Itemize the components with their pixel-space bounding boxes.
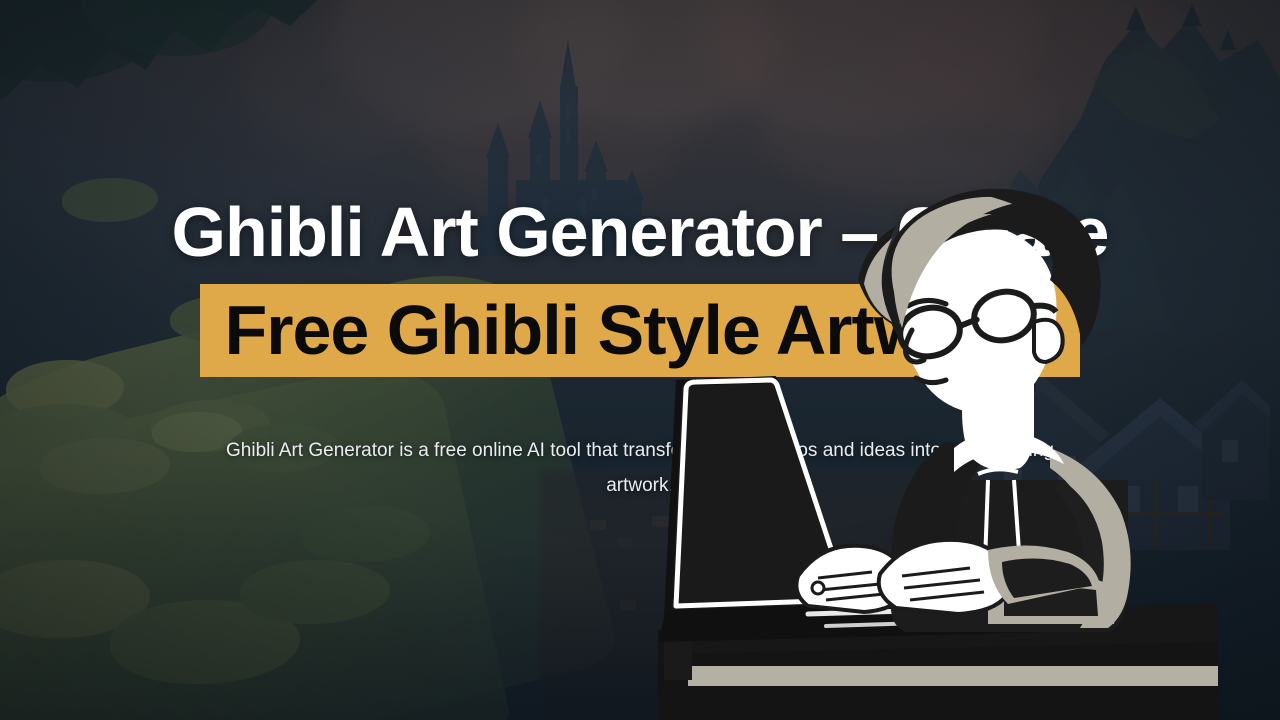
hero-subtitle-line2: artwork.	[606, 475, 674, 496]
hero-banner: Ghibli Art Generator – Create Free Ghibl…	[0, 0, 1280, 720]
hero-content: Ghibli Art Generator – Create Free Ghibl…	[0, 0, 1280, 720]
hero-subtitle: Ghibli Art Generator is a free online AI…	[190, 433, 1090, 503]
hero-subtitle-line1: Ghibli Art Generator is a free online AI…	[226, 440, 1054, 461]
page-title: Ghibli Art Generator – Create	[172, 196, 1109, 270]
page-title-highlight: Free Ghibli Style Artwork!	[200, 284, 1079, 378]
page-title-line2-wrapper: Free Ghibli Style Artwork!	[200, 284, 1079, 378]
